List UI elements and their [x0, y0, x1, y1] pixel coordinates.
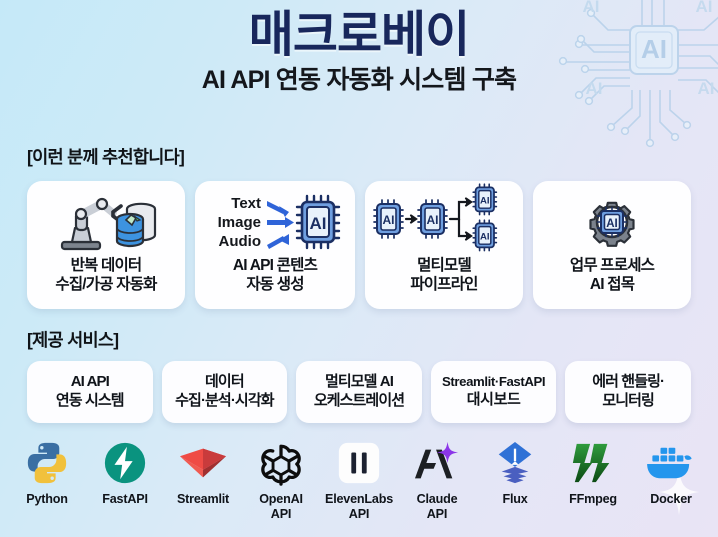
elevenlabs-logo-icon: [336, 437, 382, 489]
tech-logo-elevenlabs[interactable]: ElevenLabs API: [320, 437, 398, 533]
tech-logo-label: Streamlit: [177, 492, 229, 507]
docker-logo-icon: [645, 437, 697, 489]
tech-logo-openai[interactable]: OpenAI API: [242, 437, 320, 533]
brand-tagline: AI API 연동 자동화 시스템 구축: [0, 67, 718, 95]
ffmpeg-logo-icon: [569, 437, 617, 489]
service-pill-data-analysis[interactable]: 데이터 수집·분석·시각화: [162, 361, 288, 423]
pill-line-2: 오케스트레이션: [314, 392, 404, 409]
feature-card-caption: 업무 프로세스 AI 접목: [570, 257, 654, 295]
feature-card-multimodel-pipeline[interactable]: AI AI: [365, 181, 523, 309]
tech-logo-fastapi[interactable]: FastAPI: [86, 437, 164, 533]
pill-line-1: 멀티모델 AI: [325, 373, 393, 390]
tech-logo-strip: Python FastAPI: [8, 437, 710, 533]
pill-line-2: 대시보드: [467, 391, 521, 408]
tech-logo-label: Flux: [502, 492, 527, 507]
caption-line-2: 수집/가공 자동화: [55, 276, 156, 293]
pill-line-1: AI API: [71, 373, 109, 390]
feature-card-process-ai[interactable]: AI 업무 프로세스 AI 접목: [533, 181, 691, 309]
tech-logo-docker[interactable]: Docker: [632, 437, 710, 533]
feature-card-list: 반복 데이터 수집/가공 자동화 Text Image Audio: [27, 181, 691, 309]
flux-logo-icon: [493, 437, 537, 489]
tech-logo-claude[interactable]: Claude API: [398, 437, 476, 533]
chip-label: AI: [606, 218, 618, 230]
services-section-heading: [제공 서비스]: [27, 327, 118, 352]
service-pill-list: AI API 연동 시스템 데이터 수집·분석·시각화 멀티모델 AI 오케스트…: [27, 361, 691, 423]
pill-line-1: 에러 핸들링·: [592, 373, 664, 390]
chip-label: AI: [480, 231, 490, 242]
fastapi-logo-icon: [102, 437, 148, 489]
robot-arm-database-icon: [31, 191, 181, 253]
poster-header: 매크로베이 AI API 연동 자동화 시스템 구축: [0, 10, 718, 95]
tech-logo-python[interactable]: Python: [8, 437, 86, 533]
poster-canvas: AI AI AI AI AI 매크로베이 AI API 연동 자동화 시스템 구…: [0, 0, 718, 537]
logo-line-1: Claude: [417, 492, 458, 506]
recommend-section-heading: [이런 분께 추천합니다]: [27, 144, 184, 169]
gear-chip-icon: AI: [537, 191, 687, 253]
logo-line-1: Docker: [650, 492, 692, 506]
chip-label: AI: [427, 213, 439, 227]
chip-label: AI: [310, 214, 327, 233]
tech-logo-streamlit[interactable]: Streamlit: [164, 437, 242, 533]
tech-logo-label: OpenAI API: [259, 492, 303, 522]
logo-line-1: OpenAI: [259, 492, 303, 506]
service-pill-dashboard[interactable]: Streamlit·FastAPI 대시보드: [431, 361, 557, 423]
service-pill-monitoring[interactable]: 에러 핸들링· 모니터링: [565, 361, 691, 423]
tech-logo-label: ElevenLabs API: [325, 492, 393, 522]
tech-logo-label: FFmpeg: [569, 492, 617, 507]
tech-logo-label: Claude API: [417, 492, 458, 522]
caption-line-1: 반복 데이터: [71, 257, 142, 274]
input-label-image: Image: [218, 214, 261, 231]
multimodal-input-chip-icon: Text Image Audio: [199, 191, 351, 253]
ai-chip-icon: AI: [297, 196, 339, 248]
input-label-text: Text: [231, 195, 261, 212]
chip-label: AI: [383, 213, 395, 227]
logo-line-2: API: [427, 507, 447, 521]
caption-line-1: 멀티모델: [417, 257, 471, 274]
service-pill-orchestration[interactable]: 멀티모델 AI 오케스트레이션: [296, 361, 422, 423]
logo-line-2: API: [271, 507, 291, 521]
feature-card-data-automation[interactable]: 반복 데이터 수집/가공 자동화: [27, 181, 185, 309]
feature-card-caption: 반복 데이터 수집/가공 자동화: [55, 257, 156, 295]
feature-card-caption: 멀티모델 파이프라인: [410, 257, 477, 295]
caption-line-2: 파이프라인: [410, 276, 477, 293]
logo-line-1: Flux: [502, 492, 527, 506]
service-pill-api-integration[interactable]: AI API 연동 시스템: [27, 361, 153, 423]
pill-line-1: Streamlit·FastAPI: [442, 374, 545, 389]
feature-card-content-generation[interactable]: Text Image Audio: [195, 181, 355, 309]
logo-line-1: Streamlit: [177, 492, 229, 506]
tech-logo-label: Python: [26, 492, 67, 507]
pill-line-2: 수집·분석·시각화: [175, 392, 274, 409]
openai-logo-icon: [258, 437, 304, 489]
pill-line-2: 모니터링: [602, 392, 654, 409]
caption-line-1: 업무 프로세스: [570, 257, 654, 274]
tech-logo-label: Docker: [650, 492, 692, 507]
arrow-icon: [267, 201, 294, 249]
tech-logo-label: FastAPI: [102, 492, 148, 507]
logo-line-1: FFmpeg: [569, 492, 617, 506]
tech-logo-flux[interactable]: Flux: [476, 437, 554, 533]
logo-line-2: API: [349, 507, 369, 521]
chip-label: AI: [480, 195, 490, 206]
caption-line-2: 자동 생성: [246, 276, 303, 293]
pill-line-2: 연동 시스템: [56, 392, 124, 409]
logo-line-1: FastAPI: [102, 492, 148, 506]
logo-line-1: ElevenLabs: [325, 492, 393, 506]
feature-card-caption: AI API 콘텐츠 자동 생성: [233, 257, 317, 295]
chip-pipeline-icon: AI AI: [369, 191, 519, 253]
tech-logo-ffmpeg[interactable]: FFmpeg: [554, 437, 632, 533]
brand-title: 매크로베이: [0, 10, 718, 61]
caption-line-1: AI API 콘텐츠: [233, 257, 317, 274]
pill-line-1: 데이터: [205, 373, 244, 390]
input-label-audio: Audio: [219, 233, 262, 250]
logo-line-1: Python: [26, 492, 67, 506]
streamlit-logo-icon: [178, 437, 228, 489]
python-logo-icon: [24, 437, 70, 489]
caption-line-2: AI 접목: [590, 276, 634, 293]
claude-logo-icon: [411, 437, 463, 489]
